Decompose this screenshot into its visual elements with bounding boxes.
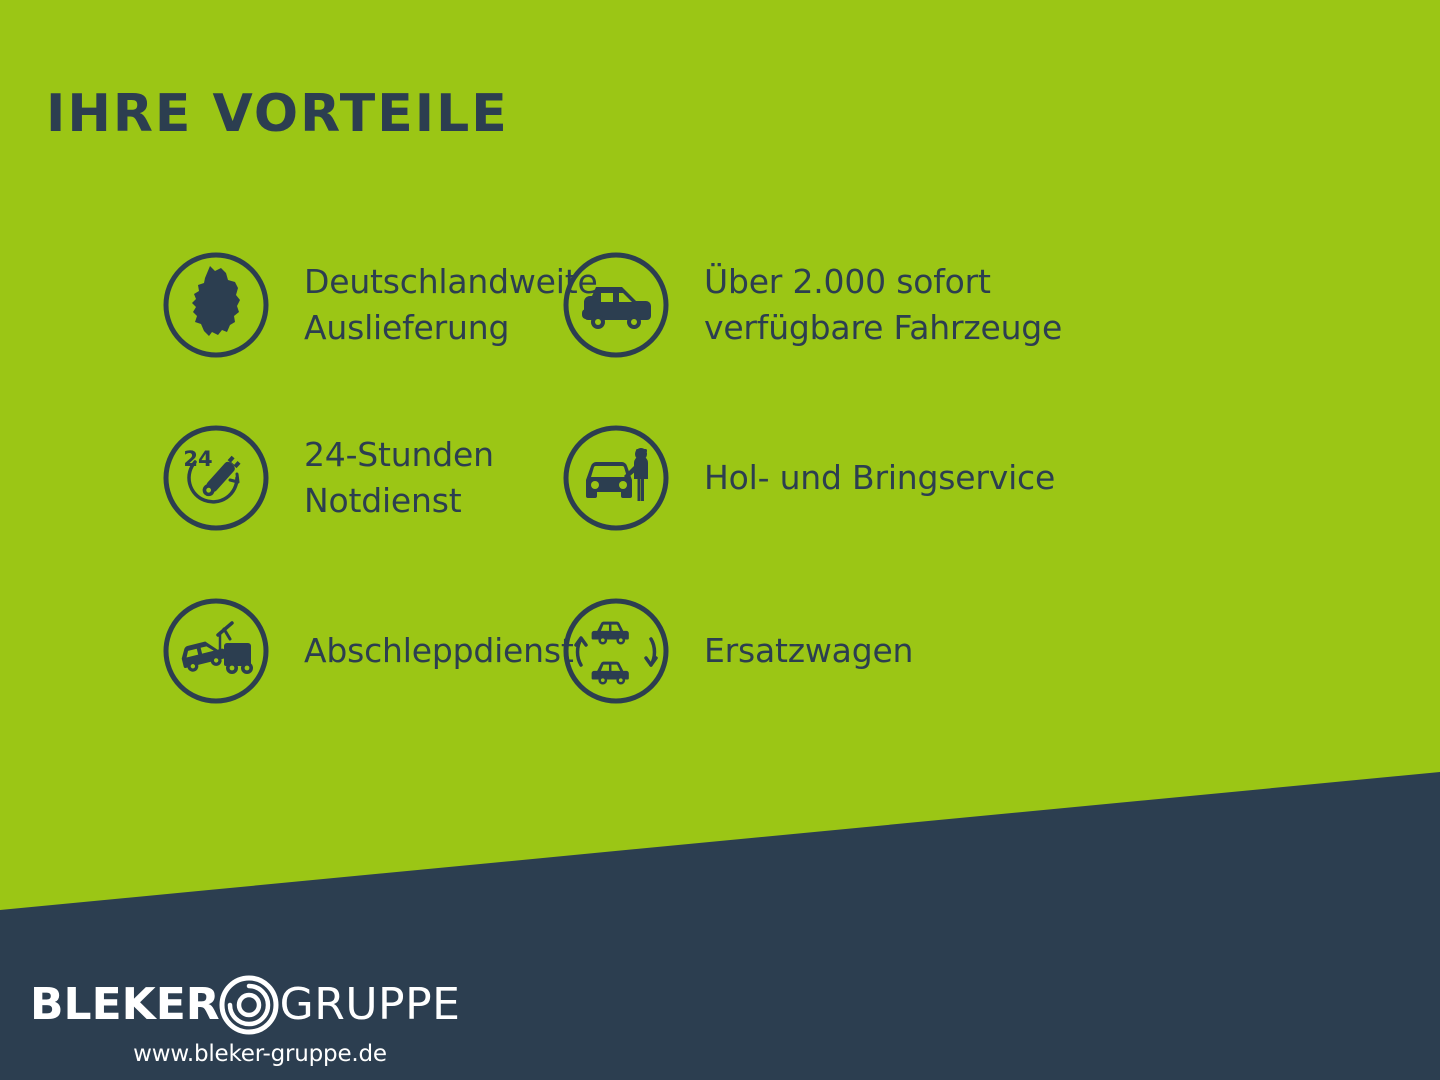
logo-row: BLEKER GRUPPE bbox=[30, 975, 430, 1035]
benefit-label-line1: Über 2.000 sofort bbox=[704, 262, 991, 301]
slide-root: IHRE VORTEILE Deutschlandweite Ausliefer… bbox=[0, 0, 1440, 1080]
logo-website-url[interactable]: www.bleker-gruppe.de bbox=[30, 1041, 430, 1067]
page-title: IHRE VORTEILE bbox=[46, 88, 509, 140]
benefit-label-line1: Deutschlandweite bbox=[304, 262, 598, 301]
benefits-grid: Deutschlandweite Auslieferung bbox=[0, 218, 1440, 737]
car-side-icon bbox=[560, 249, 672, 361]
benefit-label: Hol- und Bringservice bbox=[704, 455, 1055, 501]
benefit-label: 24-Stunden Notdienst bbox=[304, 432, 494, 523]
benefit-item-abschleppdienst: Abschleppdienst bbox=[0, 564, 560, 737]
benefit-label-line2: verfügbare Fahrzeuge bbox=[704, 305, 1062, 351]
benefits-row-3: Abschleppdienst bbox=[0, 564, 1440, 737]
tow-truck-icon bbox=[160, 595, 272, 707]
benefit-label-line1: Ersatzwagen bbox=[704, 631, 913, 670]
24-hours-wrench-icon: 24 bbox=[160, 422, 272, 534]
germany-map-icon bbox=[160, 249, 272, 361]
benefit-item-verfuegbare-fahrzeuge: Über 2.000 sofort verfügbare Fahrzeuge bbox=[560, 218, 1280, 391]
benefit-label-line1: Abschleppdienst bbox=[304, 631, 574, 670]
benefits-row-1: Deutschlandweite Auslieferung bbox=[0, 218, 1440, 391]
benefit-item-24-stunden-notdienst: 24 24-Stunden Notdienst bbox=[0, 391, 560, 564]
benefit-item-hol-und-bringservice: Hol- und Bringservice bbox=[560, 391, 1280, 564]
benefit-label-line1: 24-Stunden bbox=[304, 435, 494, 474]
benefit-label-line2: Auslieferung bbox=[304, 305, 598, 351]
logo-text-bleker: BLEKER bbox=[30, 983, 220, 1027]
benefit-label: Ersatzwagen bbox=[704, 628, 913, 674]
car-with-person-icon bbox=[560, 422, 672, 534]
bleker-spiral-logo-icon bbox=[212, 968, 286, 1042]
benefits-row-2: 24 24-Stunden Notdienst bbox=[0, 391, 1440, 564]
footer-logo[interactable]: BLEKER GRUPPE www.bleker-gruppe.de bbox=[30, 975, 430, 1067]
benefit-label-line2: Notdienst bbox=[304, 478, 494, 524]
logo-text-gruppe: GRUPPE bbox=[280, 983, 461, 1027]
benefit-item-ersatzwagen: Ersatzwagen bbox=[560, 564, 1280, 737]
benefit-label: Deutschlandweite Auslieferung bbox=[304, 259, 598, 350]
benefit-label: Über 2.000 sofort verfügbare Fahrzeuge bbox=[704, 259, 1062, 350]
benefit-label-line1: Hol- und Bringservice bbox=[704, 458, 1055, 497]
benefit-label: Abschleppdienst bbox=[304, 628, 574, 674]
two-cars-exchange-icon bbox=[560, 595, 672, 707]
hours-badge-text: 24 bbox=[183, 447, 212, 471]
benefit-item-deutschlandweite-auslieferung: Deutschlandweite Auslieferung bbox=[0, 218, 560, 391]
